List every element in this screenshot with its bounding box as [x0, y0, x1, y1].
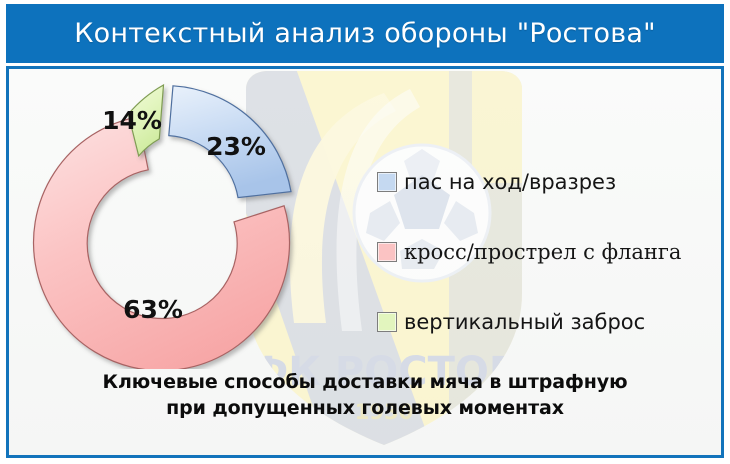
page-title: Контекстный анализ обороны "Ростова" — [74, 18, 655, 49]
legend-label-vertical: вертикальный заброс — [404, 310, 645, 334]
doughnut-chart-svg: 23% 63% 14% — [27, 69, 357, 369]
legend-swatch-cross — [377, 242, 397, 262]
pie-label-pass: 23% — [206, 132, 266, 161]
doughnut-chart: 23% 63% 14% — [27, 69, 357, 369]
legend-label-cross: кросс/прострел с фланга — [404, 240, 681, 264]
title-band: Контекстный анализ обороны "Ростова" — [6, 4, 724, 63]
legend-item-cross[interactable]: кросс/прострел с фланга — [377, 217, 717, 287]
caption-line-1: Ключевые способы доставки мяча в штрафну… — [9, 369, 721, 395]
chart-legend: пас на ход/вразрез кросс/прострел с флан… — [377, 147, 717, 357]
legend-label-pass: пас на ход/вразрез — [404, 170, 616, 194]
legend-item-pass[interactable]: пас на ход/вразрез — [377, 147, 717, 217]
infographic-poster: Контекстный анализ обороны "Ростова" — [0, 0, 730, 464]
caption-line-2: при допущенных голевых моментах — [9, 395, 721, 421]
content-background: ФК РОСТОВ 1930 — [9, 69, 721, 455]
chart-caption: Ключевые способы доставки мяча в штрафну… — [9, 369, 721, 421]
legend-swatch-vertical — [377, 312, 397, 332]
legend-swatch-pass — [377, 172, 397, 192]
content-frame: ФК РОСТОВ 1930 — [6, 66, 724, 458]
legend-item-vertical[interactable]: вертикальный заброс — [377, 287, 717, 357]
pie-label-vertical: 14% — [102, 106, 162, 135]
pie-label-cross: 63% — [123, 295, 183, 324]
